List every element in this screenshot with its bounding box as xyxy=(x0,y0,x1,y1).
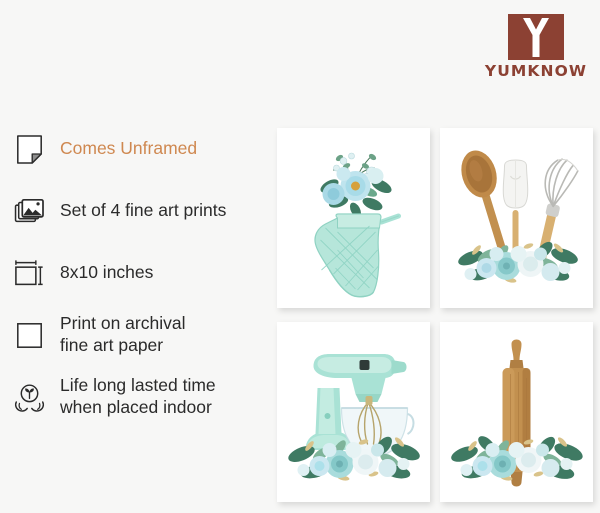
feature-label: Life long lasted time when placed indoor xyxy=(60,375,216,419)
feature-item-comes-unframed: Comes Unframed xyxy=(0,118,272,180)
feature-label: Comes Unframed xyxy=(60,138,197,160)
brand-wordmark: YUMKNOW xyxy=(480,64,592,80)
feature-item-set-of-4: Set of 4 fine art prints xyxy=(0,180,272,242)
hands-sprout-icon xyxy=(8,375,50,419)
print-card-rolling-pin[interactable] xyxy=(440,322,593,502)
y-monogram-icon xyxy=(508,14,564,60)
page-folded-corner-icon xyxy=(8,127,50,171)
feature-item-archival-paper: Print on archival fine art paper xyxy=(0,304,272,366)
dimensions-icon xyxy=(8,251,50,295)
feature-item-long-life: Life long lasted time when placed indoor xyxy=(0,366,272,428)
print-preview-grid xyxy=(277,128,593,502)
feature-list: Comes Unframed Set of 4 fine art prints xyxy=(0,118,272,428)
brand-logo: YUMKNOW xyxy=(480,14,592,80)
feature-label: Print on archival fine art paper xyxy=(60,313,185,357)
feature-label: Set of 4 fine art prints xyxy=(60,200,226,222)
print-card-oven-mitt[interactable] xyxy=(277,128,430,308)
feature-item-dimensions: 8x10 inches xyxy=(0,242,272,304)
paper-square-icon xyxy=(8,313,50,357)
image-stack-icon xyxy=(8,189,50,233)
print-card-utensils[interactable] xyxy=(440,128,593,308)
feature-label: 8x10 inches xyxy=(60,262,153,284)
print-card-stand-mixer[interactable] xyxy=(277,322,430,502)
